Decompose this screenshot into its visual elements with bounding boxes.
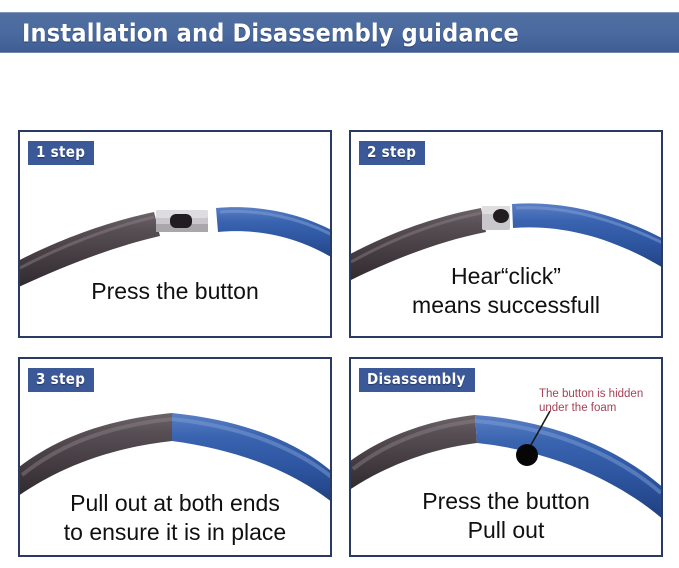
step-badge: 1 step	[28, 141, 94, 165]
panel-caption: Pull out at both ends to ensure it is in…	[20, 489, 330, 547]
step-badge: 3 step	[28, 368, 94, 392]
panel-caption: Press the button Pull out	[351, 487, 661, 545]
panel-caption: Press the button	[20, 277, 330, 306]
annotation-label: The button is hidden under the foam	[539, 387, 643, 415]
page-title: Installation and Disassembly guidance	[22, 18, 519, 47]
step-badge: 2 step	[359, 141, 425, 165]
disassembly-badge: Disassembly	[359, 368, 475, 392]
hidden-button-marker	[516, 444, 538, 466]
panel-caption: Hear“click” means successfull	[351, 262, 661, 320]
instruction-panel-step-2: 2 step	[349, 130, 663, 338]
header-banner: Installation and Disassembly guidance	[0, 12, 679, 53]
instruction-panel-step-3: 3 step	[18, 357, 332, 557]
instruction-panel-step-1: 1 step	[18, 130, 332, 338]
instruction-panel-disassembly: Disassembly	[349, 357, 663, 557]
